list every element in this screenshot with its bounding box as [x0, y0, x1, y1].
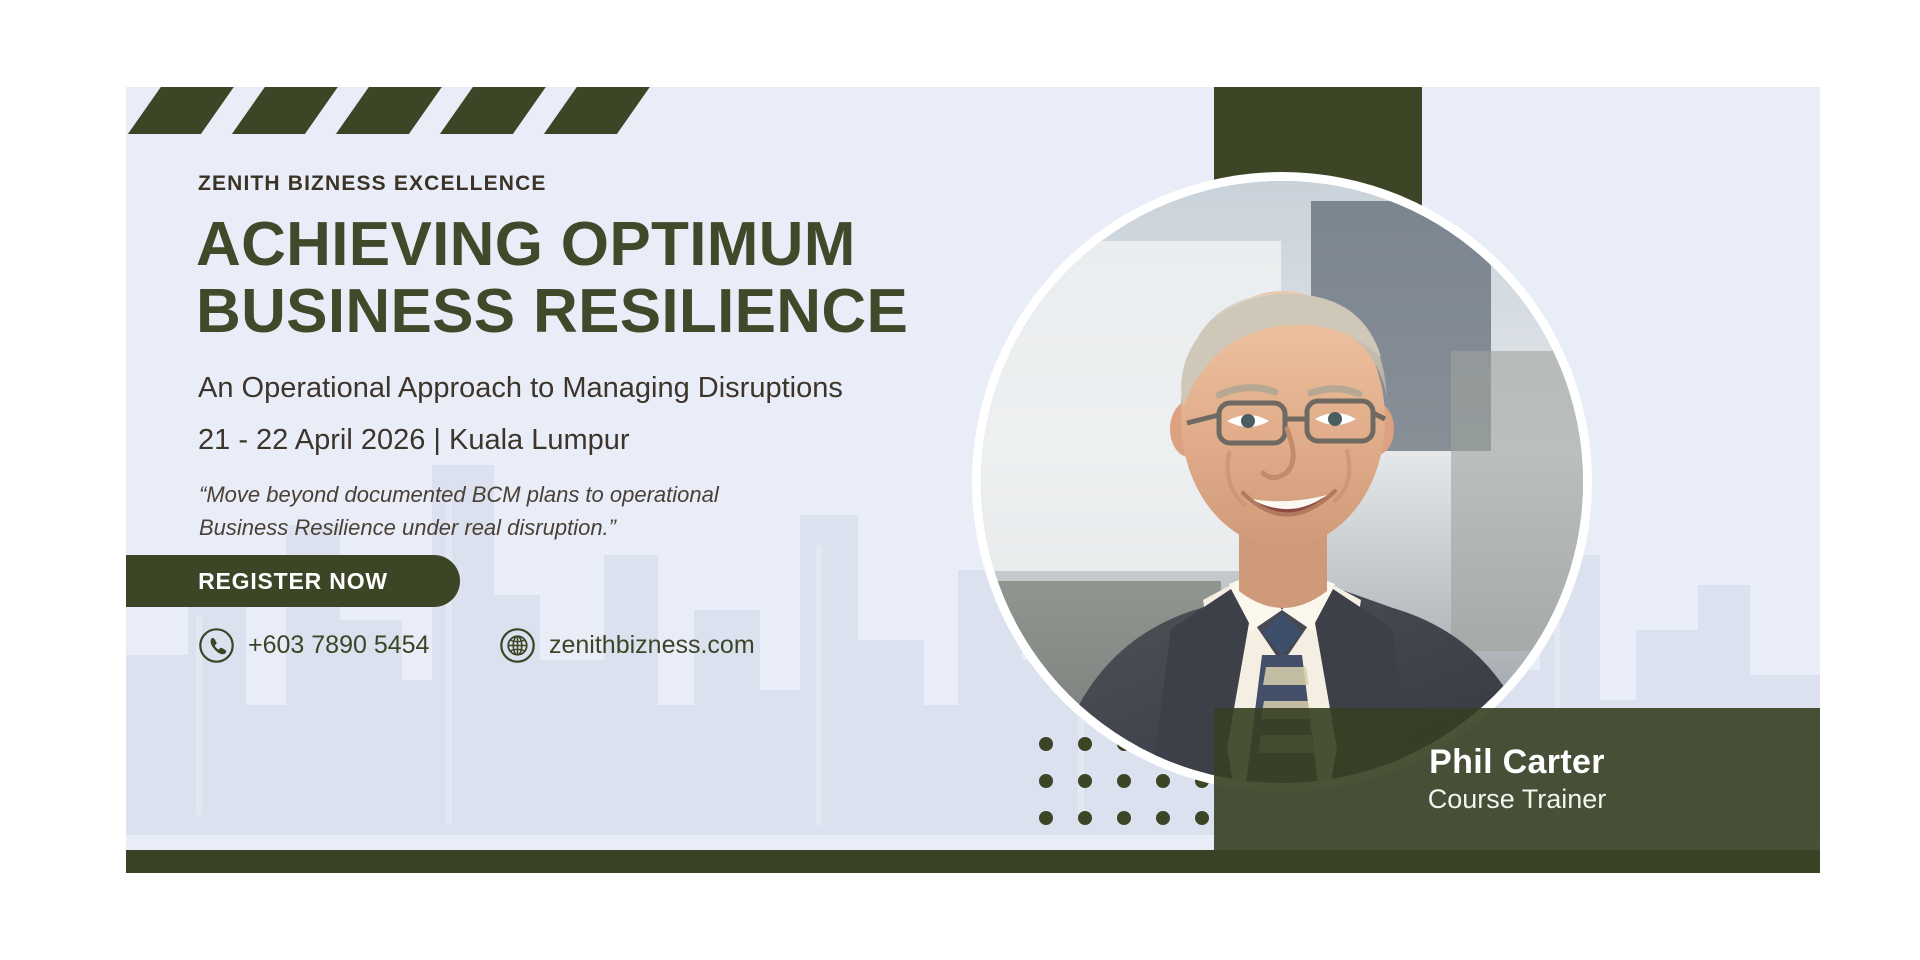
brand-eyebrow: ZENITH BIZNESS EXCELLENCE: [198, 172, 547, 196]
speaker-role: Course Trainer: [1428, 784, 1607, 815]
pull-quote: “Move beyond documented BCM plans to ope…: [199, 479, 719, 544]
speaker-portrait: [972, 172, 1592, 792]
event-date-location: 21 - 22 April 2026 | Kuala Lumpur: [198, 424, 630, 457]
phone-number: +603 7890 5454: [248, 631, 429, 660]
contact-website[interactable]: zenithbizness.com: [499, 627, 755, 664]
register-now-button[interactable]: REGISTER NOW: [126, 555, 460, 607]
speaker-name-band: Phil Carter Course Trainer: [1214, 708, 1820, 850]
phone-icon: [198, 627, 235, 664]
contact-phone[interactable]: +603 7890 5454: [198, 627, 429, 664]
speaker-name: Phil Carter: [1429, 743, 1605, 782]
globe-icon: [499, 627, 536, 664]
diagonal-bars-decoration: [126, 87, 706, 134]
subtitle: An Operational Approach to Managing Disr…: [198, 372, 843, 405]
page-title: ACHIEVING OPTIMUM BUSINESS RESILIENCE: [196, 212, 908, 346]
event-banner: Phil Carter Course Trainer ZENITH BIZNES…: [126, 87, 1820, 873]
register-now-label: REGISTER NOW: [198, 568, 388, 595]
bottom-accent-strip: [126, 850, 1820, 873]
portrait-photo: [981, 181, 1583, 783]
website-url: zenithbizness.com: [549, 631, 755, 660]
